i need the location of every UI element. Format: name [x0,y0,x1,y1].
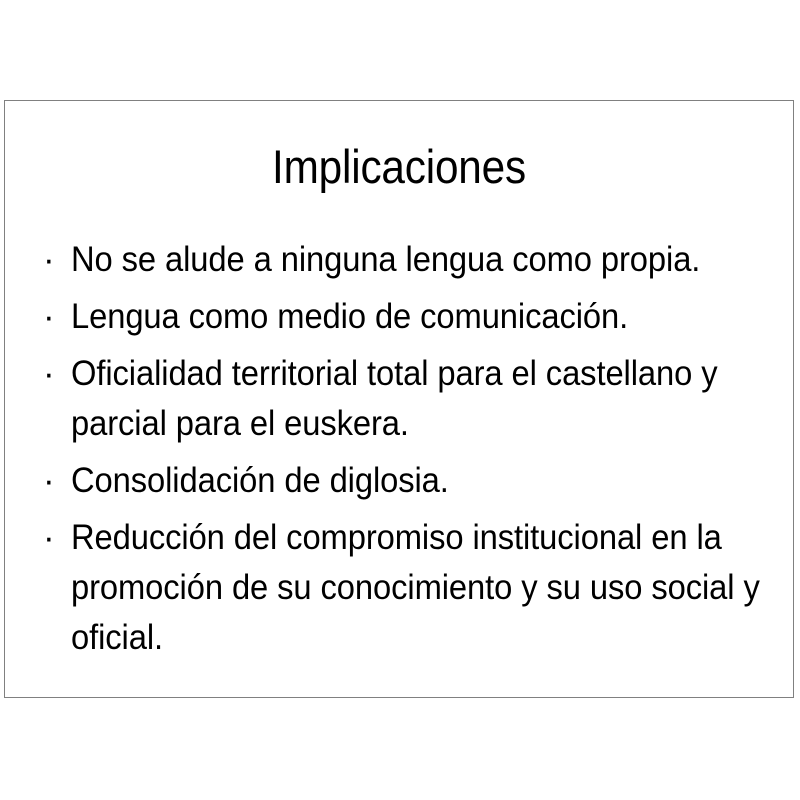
list-item-text: Oficialidad territorial total para el ca… [71,349,777,449]
list-item: · Lengua como medio de comunicación. [35,292,777,342]
list-item-text: Reducción del compromiso institucional e… [71,513,777,663]
bullet-dot-icon: · [43,235,61,285]
slide-content-area: Implicaciones · No se alude a ninguna le… [5,101,793,697]
bullet-dot-icon: · [43,513,61,563]
list-item: · No se alude a ninguna lengua como prop… [35,235,777,285]
bullet-list: · No se alude a ninguna lengua como prop… [35,235,777,663]
bullet-dot-icon: · [43,349,61,399]
list-item: · Reducción del compromiso institucional… [35,513,777,663]
bullet-dot-icon: · [43,292,61,342]
slide-page: Implicaciones · No se alude a ninguna le… [0,0,800,800]
list-item: · Oficialidad territorial total para el … [35,349,777,449]
list-item: · Consolidación de diglosia. [35,456,777,506]
list-item-text: Lengua como medio de comunicación. [71,292,777,342]
list-item-text: Consolidación de diglosia. [71,456,777,506]
bullet-dot-icon: · [43,456,61,506]
list-item-text: No se alude a ninguna lengua como propia… [71,235,777,285]
slide-frame: Implicaciones · No se alude a ninguna le… [4,100,794,698]
slide-title: Implicaciones [44,139,753,195]
